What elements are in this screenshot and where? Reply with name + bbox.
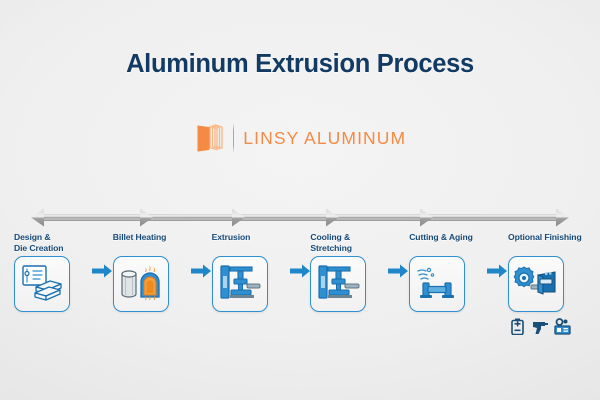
step-label-line1: Billet Heating [113,232,167,242]
step-label: Extrusion [212,232,290,254]
step-label: Cutting & Aging [409,232,487,254]
process-step-billet-heating[interactable]: Billet Heating [113,232,191,312]
battery-anodizing-icon[interactable] [510,318,525,335]
step-label: Optional Finishing [508,232,586,254]
step-icon-box[interactable] [409,256,465,312]
process-step-optional-finishing[interactable]: Optional Finishing [508,232,586,335]
flow-arrow [191,262,211,280]
step-label-line2: Die Creation [14,243,63,253]
flow-arrow [290,262,310,280]
brand-logo: LINSY ALUMINUM [0,122,600,154]
step-icon-box[interactable] [14,256,70,312]
process-timeline-arrow [0,206,600,230]
billet-and-furnace-icon [119,262,163,307]
process-steps-row: Design & Die Creation [14,232,586,335]
step-label: Billet Heating [113,232,191,254]
process-step-extrusion[interactable]: Extrusion [212,232,290,312]
logo-divider [233,123,235,153]
step-label-line1: Cutting & Aging [409,232,473,242]
step-label: Design & Die Creation [14,232,92,254]
blueprint-and-billet-stack-icon [20,262,64,307]
step-label-line1: Optional Finishing [508,232,582,242]
step-icon-box[interactable] [508,256,564,312]
flow-arrow [388,262,408,280]
process-step-cooling-stretching[interactable]: Cooling & Stretching [310,232,388,312]
step-icon-box[interactable] [310,256,366,312]
flow-arrow [487,262,507,280]
step-label-line1: Design & [14,232,50,242]
flow-arrow [92,262,112,280]
finishing-substeps [510,318,586,335]
stacked-aluminum-sheets-icon [194,122,224,154]
saw-and-finishing-machine-icon [513,263,559,306]
fabrication-machine-icon[interactable] [554,318,569,335]
process-step-cutting-aging[interactable]: Cutting & Aging [409,232,487,312]
page-title: Aluminum Extrusion Process [0,50,600,79]
step-label-line1: Cooling & Stretching [310,232,352,253]
process-step-design-die-creation[interactable]: Design & Die Creation [14,232,92,312]
step-label-line1: Extrusion [212,232,251,242]
step-label: Cooling & Stretching [310,232,388,254]
step-icon-box[interactable] [212,256,268,312]
logo-text: LINSY ALUMINUM [243,128,406,149]
press-quench-icon [316,262,360,307]
step-icon-box[interactable] [113,256,169,312]
extrusion-press-icon [218,262,262,307]
spray-gun-powder-coating-icon[interactable] [532,318,547,335]
stretcher-cooling-icon [415,262,459,307]
